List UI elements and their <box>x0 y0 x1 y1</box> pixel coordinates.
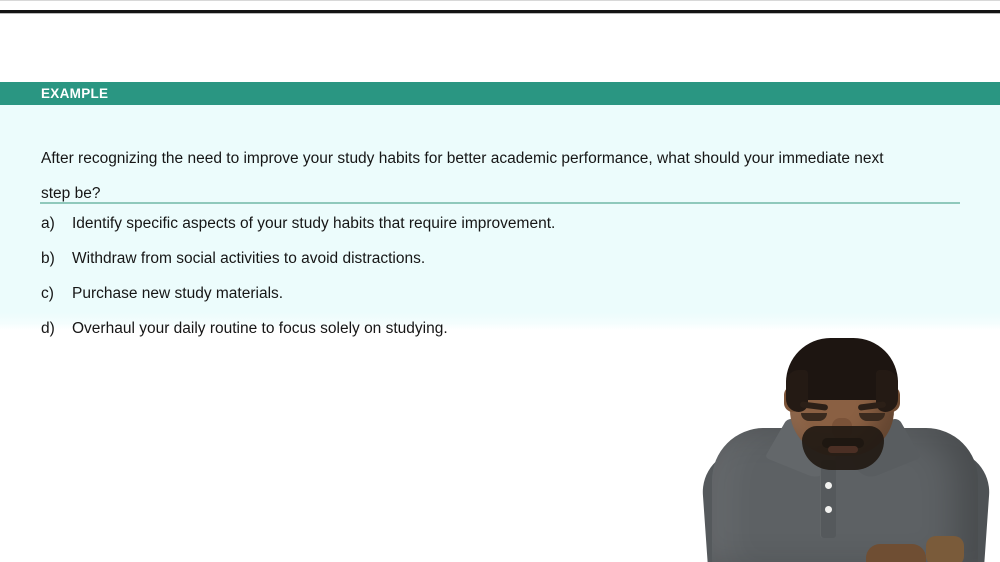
example-panel-body: After recognizing the need to improve yo… <box>0 105 1000 330</box>
example-header-label: EXAMPLE <box>41 85 108 102</box>
option-text-c: Purchase new study materials. <box>72 285 941 303</box>
presenter-video-overlay <box>690 330 1000 562</box>
presenter-mouth <box>828 446 858 453</box>
example-header-band: EXAMPLE <box>0 82 1000 105</box>
option-text-a: Identify specific aspects of your study … <box>72 215 941 233</box>
presenter-figure <box>690 330 1000 562</box>
top-rule-shadow <box>0 13 1000 14</box>
question-divider <box>40 202 960 204</box>
top-hairline <box>0 0 1000 1</box>
option-marker-a: a) <box>41 215 72 233</box>
answer-option-c[interactable]: c) Purchase new study materials. <box>41 285 941 320</box>
presenter-shirt-button-2 <box>825 506 832 513</box>
option-marker-b: b) <box>41 250 72 268</box>
presenter-eye-left <box>801 413 827 421</box>
presenter-hand <box>866 544 926 562</box>
option-marker-c: c) <box>41 285 72 303</box>
option-text-b: Withdraw from social activities to avoid… <box>72 250 941 268</box>
example-panel: EXAMPLE After recognizing the need to im… <box>0 82 1000 330</box>
question-text: After recognizing the need to improve yo… <box>41 141 901 211</box>
answer-option-a[interactable]: a) Identify specific aspects of your stu… <box>41 215 941 250</box>
presenter-shirt-button-1 <box>825 482 832 489</box>
presenter-eye-right <box>859 413 885 421</box>
option-marker-d: d) <box>41 320 72 338</box>
presenter-forearm-right <box>926 536 964 562</box>
presenter-shirt-placket <box>820 460 836 538</box>
answer-option-b[interactable]: b) Withdraw from social activities to av… <box>41 250 941 285</box>
